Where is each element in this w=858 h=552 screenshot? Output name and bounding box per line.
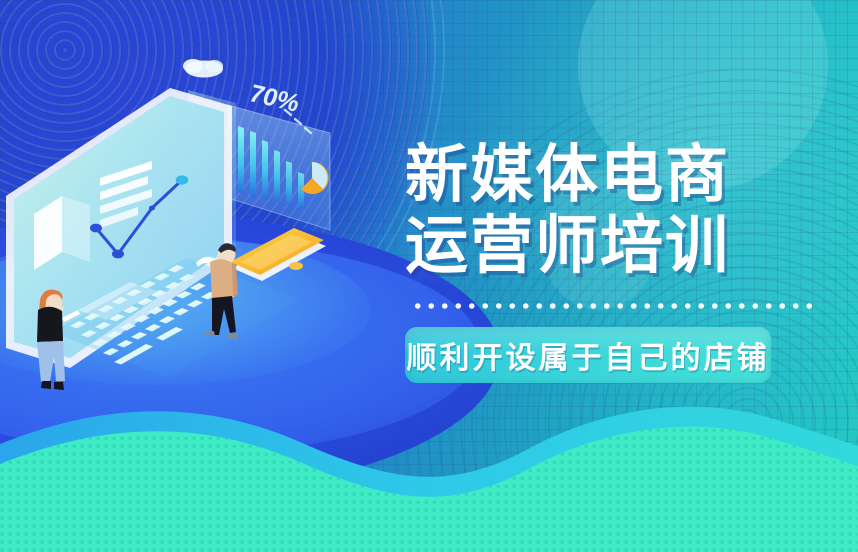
- bottom-wave-decoration: [0, 372, 858, 552]
- large-yellow-phone: [230, 228, 326, 281]
- promo-banner: 70%: [0, 0, 858, 552]
- banner-text-block: 新媒体电商 运营师培训 顺利开设属于自己的店铺: [405, 140, 825, 383]
- cloud-icon: [183, 59, 223, 78]
- phone-home-button: [289, 262, 303, 270]
- subtitle-pill[interactable]: 顺利开设属于自己的店铺: [405, 327, 771, 383]
- headline-line-2: 运营师培训: [405, 211, 825, 282]
- dotted-divider: [411, 303, 819, 309]
- subtitle-label: 顺利开设属于自己的店铺: [407, 333, 770, 377]
- analytics-panel: 70%: [228, 80, 330, 230]
- headline-line-1: 新媒体电商: [405, 140, 825, 211]
